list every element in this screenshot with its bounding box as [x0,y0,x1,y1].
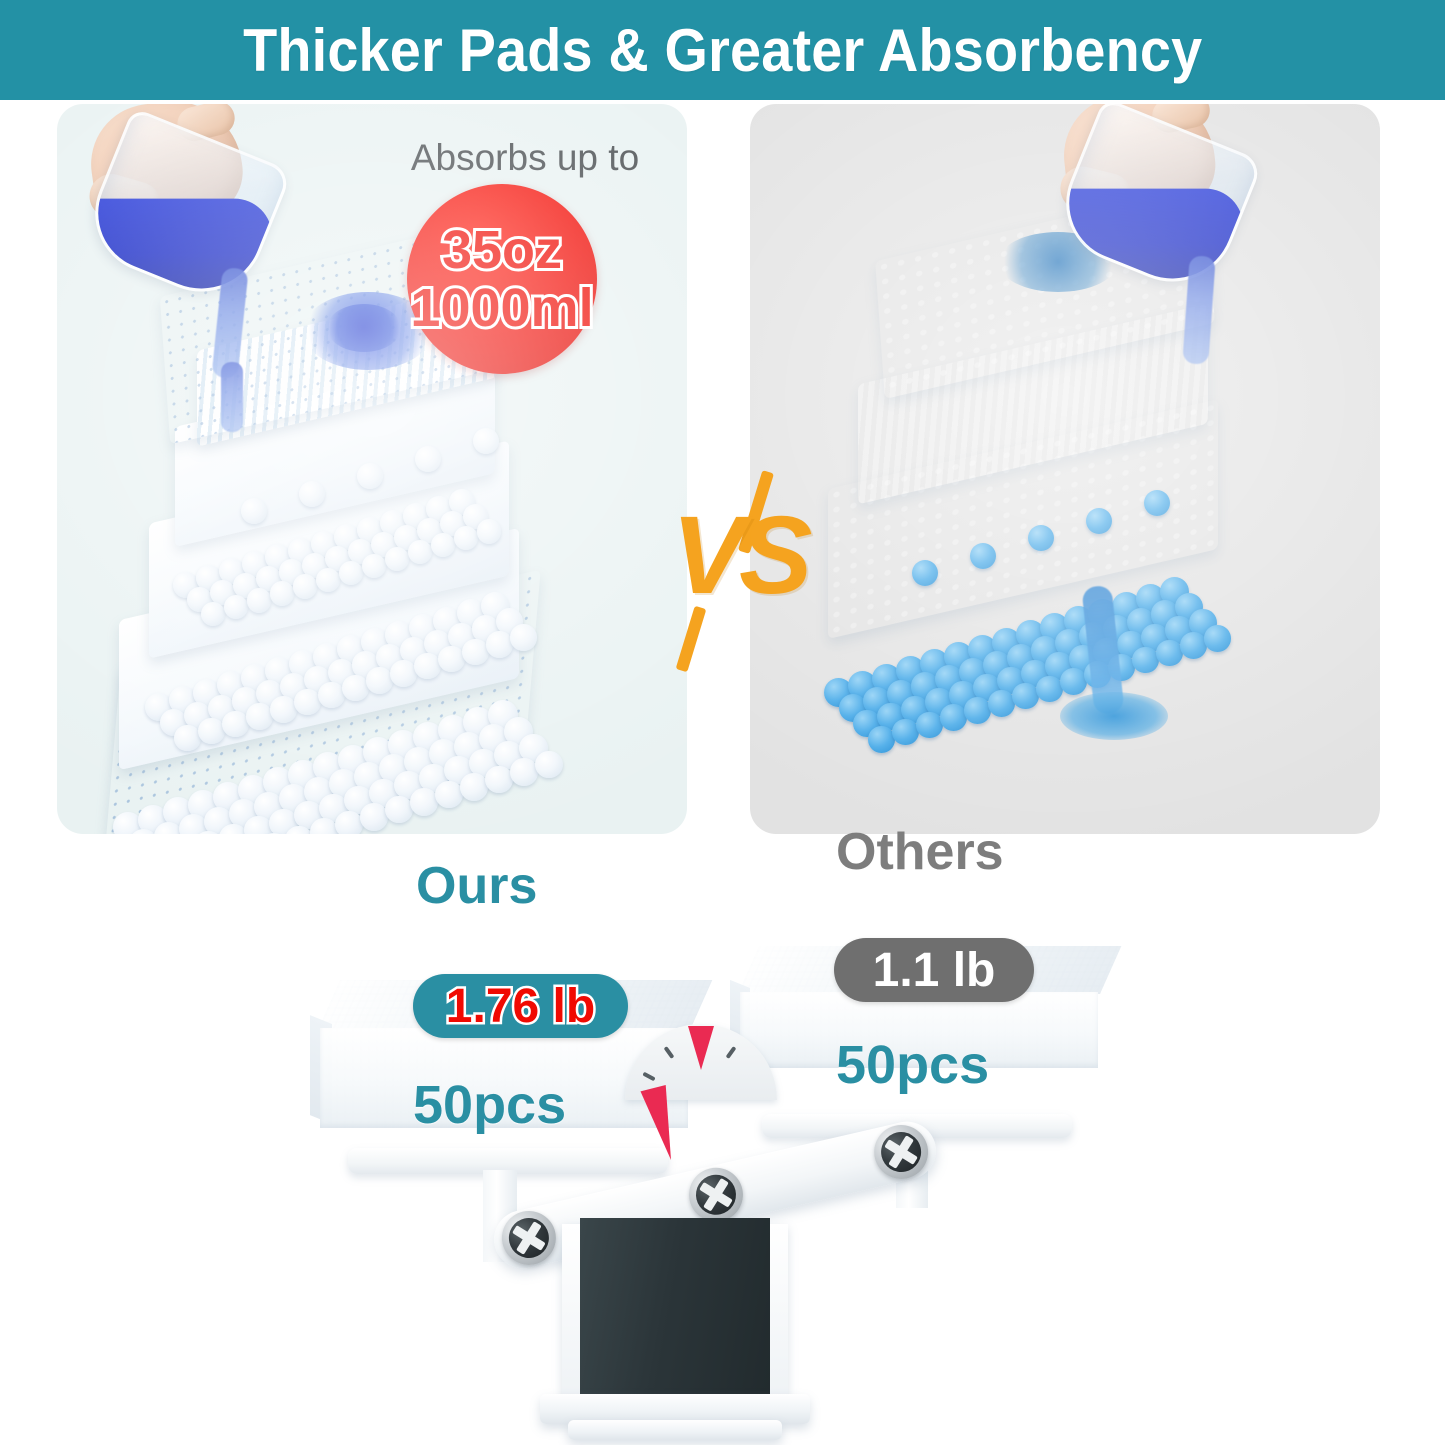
absorbent-bead [198,718,224,744]
absorbent-bead [477,519,501,543]
absorbent-bead [362,554,386,578]
liquid-droplet [299,481,325,507]
label-ours: Ours [416,856,537,916]
absorbent-bead [385,547,409,571]
absorbent-bead [1060,668,1087,695]
liquid-droplet [1144,490,1170,516]
label-others: Others [836,822,1004,882]
absorbent-bead [224,595,248,619]
absorbent-bead [318,682,344,708]
liquid-droplet [473,428,499,454]
scale-base-lower [568,1420,782,1440]
capacity-oz: 35oz [442,223,562,277]
absorbent-bead [174,725,200,751]
absorbent-bead [247,588,271,612]
absorbent-bead [916,712,943,739]
absorbent-bead [408,540,432,564]
absorbent-bead [335,811,363,835]
absorbent-bead [360,803,388,831]
pour-beaker-ours [67,104,367,430]
absorbent-bead [485,766,513,794]
panel-others [750,104,1380,834]
liquid-droplet [970,543,996,569]
absorbent-bead [892,719,919,746]
absorbent-bead [270,696,296,722]
liquid-stream-lower [221,362,243,432]
weight-badge-others: 1.1 lb [834,938,1034,1002]
comparison-row: Absorbs up to 35oz 1000ml [0,104,1445,834]
dial-tick [726,1046,737,1059]
absorbent-bead [510,758,538,786]
absorbent-bead [270,581,294,605]
scale-column [580,1218,770,1394]
vs-label: VS [655,492,823,619]
absorbent-bead [462,639,488,665]
absorbent-bead [1180,632,1207,659]
count-others: 50pcs [836,1034,989,1096]
dial-needle-up [688,1026,714,1070]
weight-badge-ours: 1.76 lb [413,974,628,1038]
absorbent-bead [1132,647,1159,674]
absorbent-bead [294,689,320,715]
absorbent-bead [964,697,991,724]
weight-value-others: 1.1 lb [873,943,996,998]
absorbent-bead [1204,625,1231,652]
absorbent-bead [390,660,416,686]
weight-value-ours: 1.76 lb [446,979,595,1034]
absorbent-bead [414,653,440,679]
absorbent-bead [316,568,340,592]
absorbent-bead [246,703,272,729]
vs-badge: VS [655,476,823,666]
absorbent-bead [435,781,463,809]
absorbent-bead [1012,683,1039,710]
liquid-droplet [1028,525,1054,551]
liquid-droplet [357,463,383,489]
absorbent-bead [460,773,488,801]
pour-beaker-others [1040,104,1340,434]
page-title: Thicker Pads & Greater Absorbency [243,16,1202,85]
absorbent-bead [510,624,536,650]
absorbent-bead [339,561,363,585]
dial-tick [642,1072,655,1082]
absorbent-bead [940,704,967,731]
absorbent-bead [293,574,317,598]
absorbent-bead [454,526,478,550]
absorbent-bead [366,667,392,693]
absorbent-bead [1156,640,1183,667]
liquid-droplet [1086,508,1112,534]
absorbent-bead [431,533,455,557]
absorbent-bead [342,675,368,701]
absorbent-bead [385,796,413,824]
absorbent-bead [988,690,1015,717]
count-ours: 50pcs [413,1074,566,1136]
capacity-badge: 35oz 1000ml [407,184,597,374]
absorbent-bead [535,751,563,779]
absorbent-bead [1036,676,1063,703]
absorbent-bead [486,631,512,657]
absorbs-label: Absorbs up to [375,137,675,179]
liquid-droplet [415,446,441,472]
liquid-droplet [241,498,267,524]
balance-comparison: Ours Others 1.76 lb 1.1 lb 50pcs 50pcs [0,834,1445,1445]
absorbent-bead [410,788,438,816]
dial-tick [664,1046,675,1059]
absorbent-bead [438,646,464,672]
absorbent-bead [222,711,248,737]
liquid-droplet [912,560,938,586]
panel-ours: Absorbs up to 35oz 1000ml [57,104,687,834]
capacity-ml: 1000ml [410,281,593,335]
leak-puddle [1060,692,1168,740]
absorbent-bead [868,726,895,753]
absorbent-bead [201,602,225,626]
header-banner: Thicker Pads & Greater Absorbency [0,0,1445,100]
